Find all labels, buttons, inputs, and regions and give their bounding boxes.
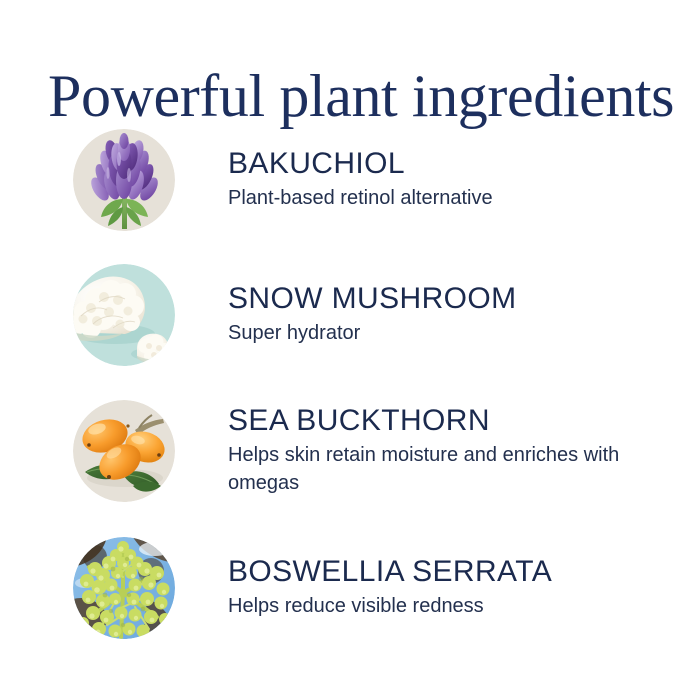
ingredient-description: Helps skin retain moisture and enriches … [228, 441, 628, 497]
ingredient-name: SNOW MUSHROOM [228, 281, 517, 316]
ingredient-description: Plant-based retinol alternative [228, 184, 493, 212]
ingredient-text-block: SNOW MUSHROOM Super hydrator [228, 281, 517, 349]
ingredient-text-block: BAKUCHIOL Plant-based retinol alternativ… [228, 146, 493, 214]
ingredient-text-block: BOSWELLIA SERRATA Helps reduce visible r… [228, 554, 552, 622]
ingredient-text-block: SEA BUCKTHORN Helps skin retain moisture… [228, 403, 628, 499]
ingredient-item-snow-mushroom: SNOW MUSHROOM Super hydrator [0, 247, 679, 382]
ingredient-item-bakuchiol: BAKUCHIOL Plant-based retinol alternativ… [0, 112, 679, 247]
ingredient-name: SEA BUCKTHORN [228, 403, 628, 438]
ingredient-description: Super hydrator [228, 319, 517, 347]
boswellia-serrata-photo [73, 537, 175, 639]
snow-mushroom-photo [73, 264, 175, 366]
bakuchiol-flower-photo [73, 129, 175, 231]
ingredients-infographic: Powerful plant ingredients [0, 0, 679, 679]
sea-buckthorn-berries-photo [73, 400, 175, 502]
ingredient-name: BAKUCHIOL [228, 146, 493, 181]
ingredient-item-sea-buckthorn: SEA BUCKTHORN Helps skin retain moisture… [0, 382, 679, 520]
ingredient-name: BOSWELLIA SERRATA [228, 554, 552, 589]
ingredient-description: Helps reduce visible redness [228, 592, 552, 620]
ingredient-list: BAKUCHIOL Plant-based retinol alternativ… [0, 112, 679, 655]
ingredient-item-boswellia-serrata: BOSWELLIA SERRATA Helps reduce visible r… [0, 520, 679, 655]
